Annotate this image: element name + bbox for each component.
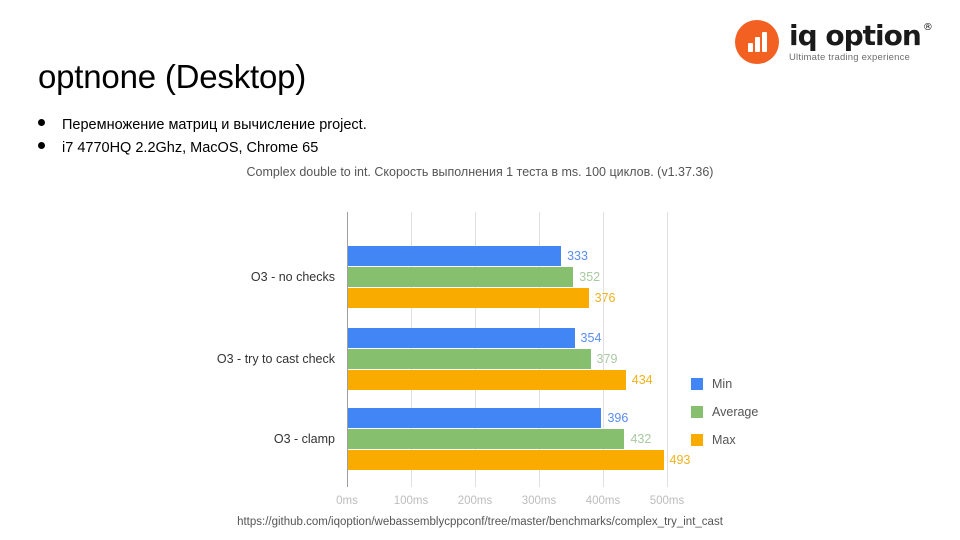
legend-swatch-icon bbox=[691, 378, 703, 390]
chart-bar bbox=[348, 288, 589, 308]
legend-item[interactable]: Average bbox=[691, 405, 758, 419]
bar-value-label: 379 bbox=[597, 349, 618, 369]
category-label: O3 - clamp bbox=[274, 433, 335, 446]
bar-value-label: 434 bbox=[632, 370, 653, 390]
bar-value-label: 493 bbox=[670, 450, 691, 470]
chart-legend: MinAverageMax bbox=[691, 377, 758, 461]
chart-bar bbox=[348, 267, 573, 287]
x-gridline bbox=[667, 212, 668, 487]
bar-value-label: 396 bbox=[607, 408, 628, 428]
chart-bar bbox=[348, 370, 626, 390]
x-tick-label: 100ms bbox=[394, 495, 429, 507]
legend-swatch-icon bbox=[691, 434, 703, 446]
x-tick-label: 500ms bbox=[650, 495, 685, 507]
chart-bar bbox=[348, 408, 601, 428]
bar-value-label: 376 bbox=[595, 288, 616, 308]
legend-label: Max bbox=[712, 433, 736, 447]
registered-mark: ® bbox=[923, 23, 932, 33]
bar-chart-circle-icon bbox=[735, 20, 779, 64]
bullet-dot-icon bbox=[38, 142, 45, 149]
list-item: i7 4770HQ 2.2Ghz, MacOS, Chrome 65 bbox=[38, 139, 598, 157]
chart-plot-area: 0ms100ms200ms300ms400ms500msO3 - no chec… bbox=[347, 212, 667, 487]
bullet-text: Перемножение матриц и вычисление project… bbox=[62, 116, 367, 134]
chart-bar bbox=[348, 450, 664, 470]
legend-item[interactable]: Max bbox=[691, 433, 758, 447]
chart-bar bbox=[348, 328, 575, 348]
x-tick-label: 300ms bbox=[522, 495, 557, 507]
bullet-list: Перемножение матриц и вычисление project… bbox=[38, 116, 598, 162]
category-label: O3 - no checks bbox=[251, 271, 335, 284]
legend-item[interactable]: Min bbox=[691, 377, 758, 391]
bar-value-label: 352 bbox=[579, 267, 600, 287]
page-title: optnone (Desktop) bbox=[38, 58, 306, 96]
legend-label: Average bbox=[712, 405, 758, 419]
chart-bar bbox=[348, 429, 624, 449]
chart-bar bbox=[348, 246, 561, 266]
chart-bar bbox=[348, 349, 591, 369]
list-item: Перемножение матриц и вычисление project… bbox=[38, 116, 598, 134]
x-tick-label: 0ms bbox=[336, 495, 358, 507]
brand-tagline: Ultimate trading experience bbox=[789, 53, 932, 63]
chart-title: Complex double to int. Скорость выполнен… bbox=[0, 165, 960, 179]
category-label: O3 - try to cast check bbox=[217, 353, 335, 366]
x-tick-label: 400ms bbox=[586, 495, 621, 507]
bullet-text: i7 4770HQ 2.2Ghz, MacOS, Chrome 65 bbox=[62, 139, 318, 157]
brand-name: iq option bbox=[789, 22, 921, 50]
brand-logo: iq option ® Ultimate trading experience bbox=[735, 20, 932, 64]
bar-value-label: 354 bbox=[581, 328, 602, 348]
source-url: https://github.com/iqoption/webassemblyc… bbox=[0, 516, 960, 528]
brand-wordmark: iq option ® Ultimate trading experience bbox=[789, 22, 932, 63]
bar-value-label: 432 bbox=[630, 429, 651, 449]
benchmark-chart: Complex double to int. Скорость выполнен… bbox=[0, 165, 960, 515]
bar-value-label: 333 bbox=[567, 246, 588, 266]
legend-label: Min bbox=[712, 377, 732, 391]
bullet-dot-icon bbox=[38, 119, 45, 126]
legend-swatch-icon bbox=[691, 406, 703, 418]
x-tick-label: 200ms bbox=[458, 495, 493, 507]
